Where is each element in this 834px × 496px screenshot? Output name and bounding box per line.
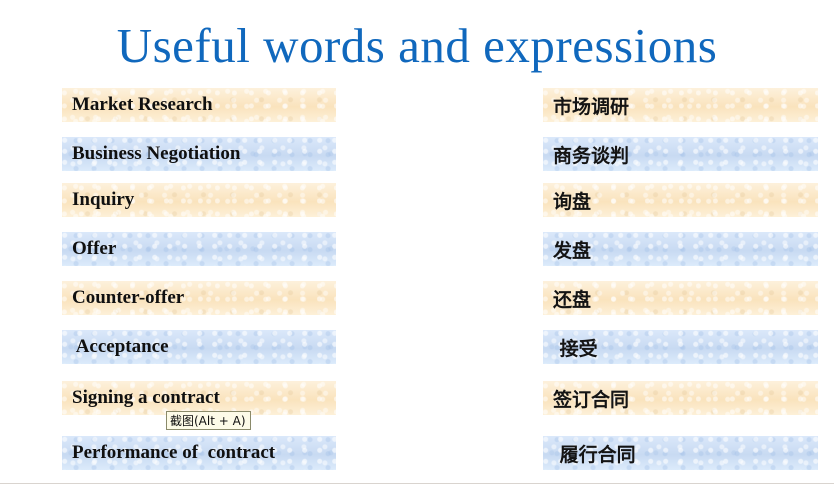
vocab-term-chinese: 商务谈判: [543, 137, 818, 171]
vocab-term-chinese: 市场调研: [543, 88, 818, 122]
vocab-term-english: Offer: [62, 232, 336, 266]
table-row: Acceptance 接受: [0, 330, 834, 364]
table-row: Signing a contract 签订合同: [0, 381, 834, 415]
screenshot-shortcut-tooltip: 截图(Alt + A): [166, 411, 251, 430]
vocab-term-english: Market Research: [62, 88, 336, 122]
vocab-term-chinese: 履行合同: [543, 436, 818, 470]
vocab-term-chinese: 签订合同: [543, 381, 818, 415]
vocab-term-english: Counter-offer: [62, 281, 336, 315]
table-row: Market Research 市场调研: [0, 88, 834, 122]
page-title: Useful words and expressions: [0, 18, 834, 74]
vocab-term-chinese: 接受: [543, 330, 818, 364]
presentation-slide: Useful words and expressions Market Rese…: [0, 0, 834, 496]
table-row: Business Negotiation 商务谈判: [0, 137, 834, 171]
vocab-term-english: Acceptance: [62, 330, 336, 364]
table-row: Performance of contract 履行合同: [0, 436, 834, 470]
vocab-term-chinese: 还盘: [543, 281, 818, 315]
vocab-term-chinese: 发盘: [543, 232, 818, 266]
bottom-strip: [0, 484, 834, 496]
vocabulary-table: Market Research 市场调研 Business Negotiatio…: [0, 86, 834, 478]
vocab-term-english: Signing a contract: [62, 381, 336, 415]
table-row: Counter-offer 还盘: [0, 281, 834, 315]
vocab-term-english: Performance of contract: [62, 436, 336, 470]
vocab-term-english: Inquiry: [62, 183, 336, 217]
table-row: Offer 发盘: [0, 232, 834, 266]
vocab-term-english: Business Negotiation: [62, 137, 336, 171]
vocab-term-chinese: 询盘: [543, 183, 818, 217]
table-row: Inquiry 询盘: [0, 183, 834, 217]
